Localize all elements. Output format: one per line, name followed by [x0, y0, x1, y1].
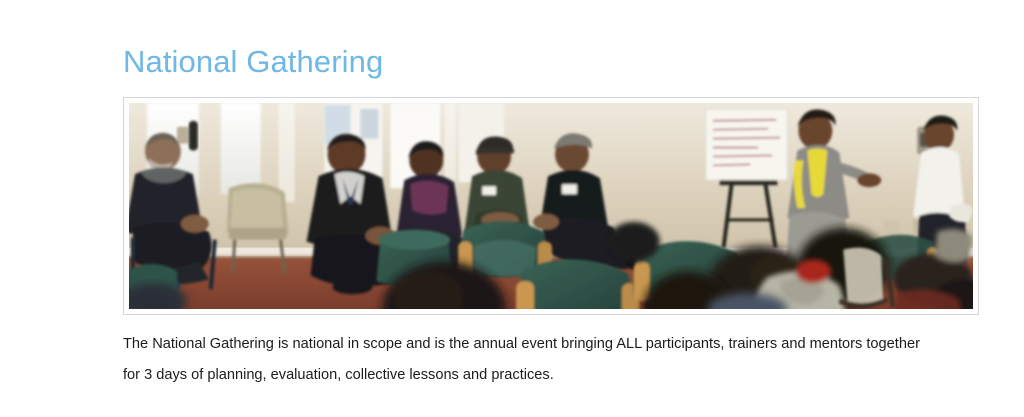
page-title: National Gathering — [123, 0, 987, 82]
page-root: National Gathering — [0, 0, 1024, 417]
national-gathering-photo — [129, 103, 973, 309]
description-paragraph: The National Gathering is national in sc… — [123, 315, 933, 391]
content-column: National Gathering — [123, 0, 987, 391]
photo-frame — [123, 97, 979, 315]
